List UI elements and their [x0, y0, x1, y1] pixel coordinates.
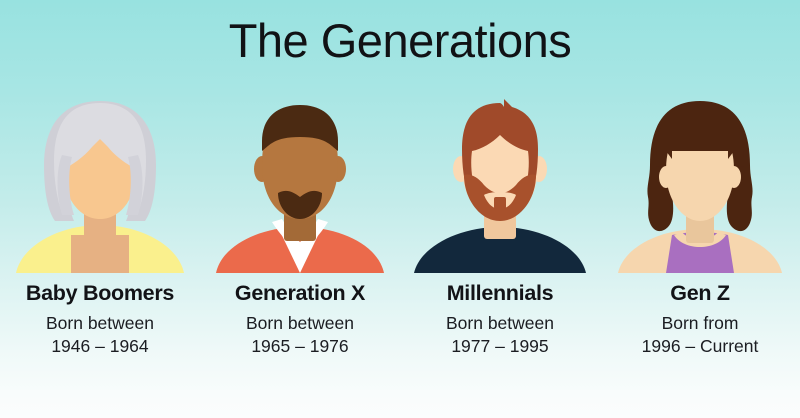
generation-labels-millennials: Millennials Born between 1977 – 1995 — [400, 281, 600, 359]
generation-card-generation-x: Generation X Born between 1965 – 1976 — [200, 95, 400, 418]
avatar-gen-z — [600, 95, 800, 273]
generation-labels-baby-boomers: Baby Boomers Born between 1946 – 1964 — [0, 281, 200, 359]
generation-years: 1946 – 1964 — [0, 335, 200, 358]
page-title: The Generations — [0, 17, 800, 64]
avatar-baby-boomer — [0, 95, 200, 273]
generations-infographic: The Generations Baby Bo — [0, 0, 800, 418]
avatar-millennial — [400, 95, 600, 273]
millennial-soul-patch — [494, 197, 506, 209]
generation-labels-generation-x: Generation X Born between 1965 – 1976 — [200, 281, 400, 359]
generation-labels-gen-z: Gen Z Born from 1996 – Current — [600, 281, 800, 359]
generation-years: 1965 – 1976 — [200, 335, 400, 358]
generation-born-label: Born from — [600, 312, 800, 335]
generation-born-label: Born between — [0, 312, 200, 335]
generation-card-baby-boomers: Baby Boomers Born between 1946 – 1964 — [0, 95, 200, 418]
genz-ear-left — [659, 166, 673, 188]
generation-name: Millennials — [400, 281, 600, 305]
generation-born-label: Born between — [400, 312, 600, 335]
generation-card-millennials: Millennials Born between 1977 – 1995 — [400, 95, 600, 418]
generation-born-label: Born between — [200, 312, 400, 335]
generation-name: Generation X — [200, 281, 400, 305]
generation-name: Gen Z — [600, 281, 800, 305]
generation-name: Baby Boomers — [0, 281, 200, 305]
generation-years: 1996 – Current — [600, 335, 800, 358]
genz-ear-right — [727, 166, 741, 188]
generation-card-gen-z: Gen Z Born from 1996 – Current — [600, 95, 800, 418]
generation-years: 1977 – 1995 — [400, 335, 600, 358]
avatar-generation-x — [200, 95, 400, 273]
